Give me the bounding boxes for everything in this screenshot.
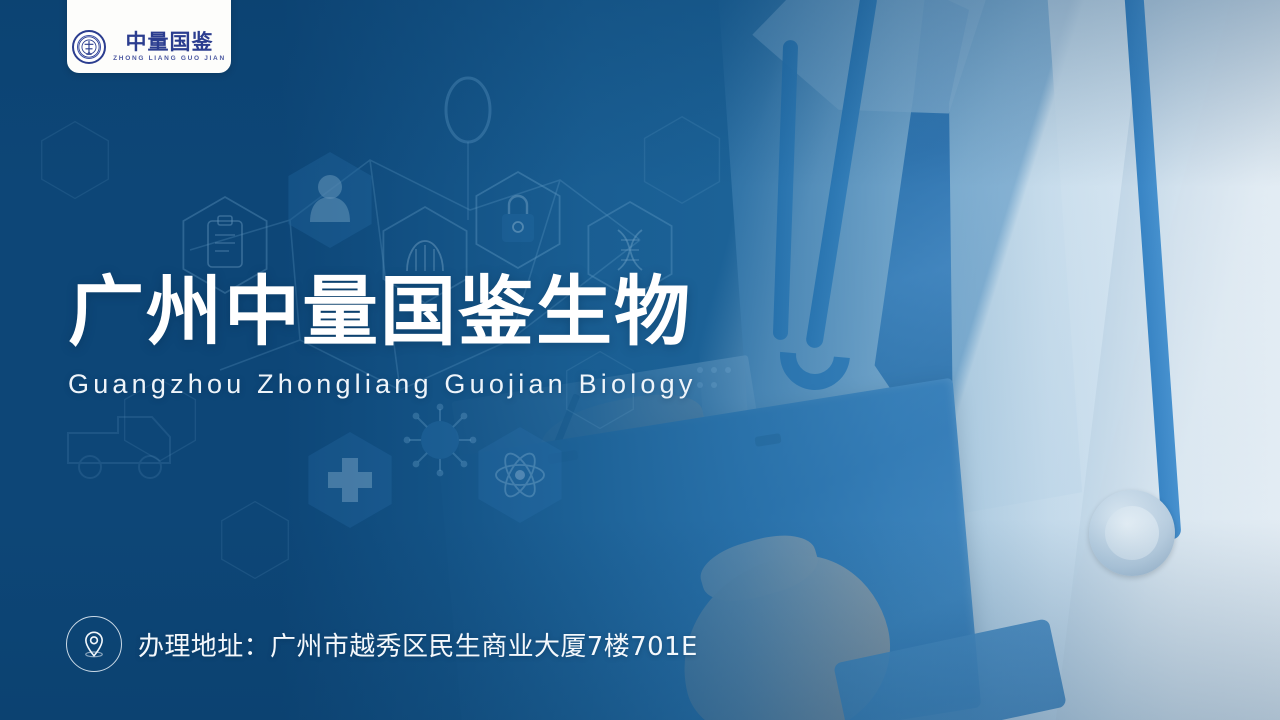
location-pin-icon <box>66 616 122 672</box>
page-subtitle: Guangzhou Zhongliang Guojian Biology <box>68 369 828 400</box>
circular-seal-emblem-icon <box>72 30 106 64</box>
address-text: 办理地址：广州市越秀区民生商业大厦7楼701E <box>138 626 698 663</box>
company-logo-badge[interactable]: 中量国鉴 ZHONG LIANG GUO JIAN <box>67 0 231 73</box>
page-title: 广州中量国鉴生物 <box>68 272 828 353</box>
promo-banner: 中量国鉴 ZHONG LIANG GUO JIAN 广州中量国鉴生物 Guang… <box>0 0 1280 720</box>
address-bar: 办理地址：广州市越秀区民生商业大厦7楼701E <box>66 616 698 672</box>
logo-chinese-name: 中量国鉴 <box>125 32 213 53</box>
headline-block: 广州中量国鉴生物 Guangzhou Zhongliang Guojian Bi… <box>68 272 828 400</box>
logo-pinyin-name: ZHONG LIANG GUO JIAN <box>113 56 226 63</box>
